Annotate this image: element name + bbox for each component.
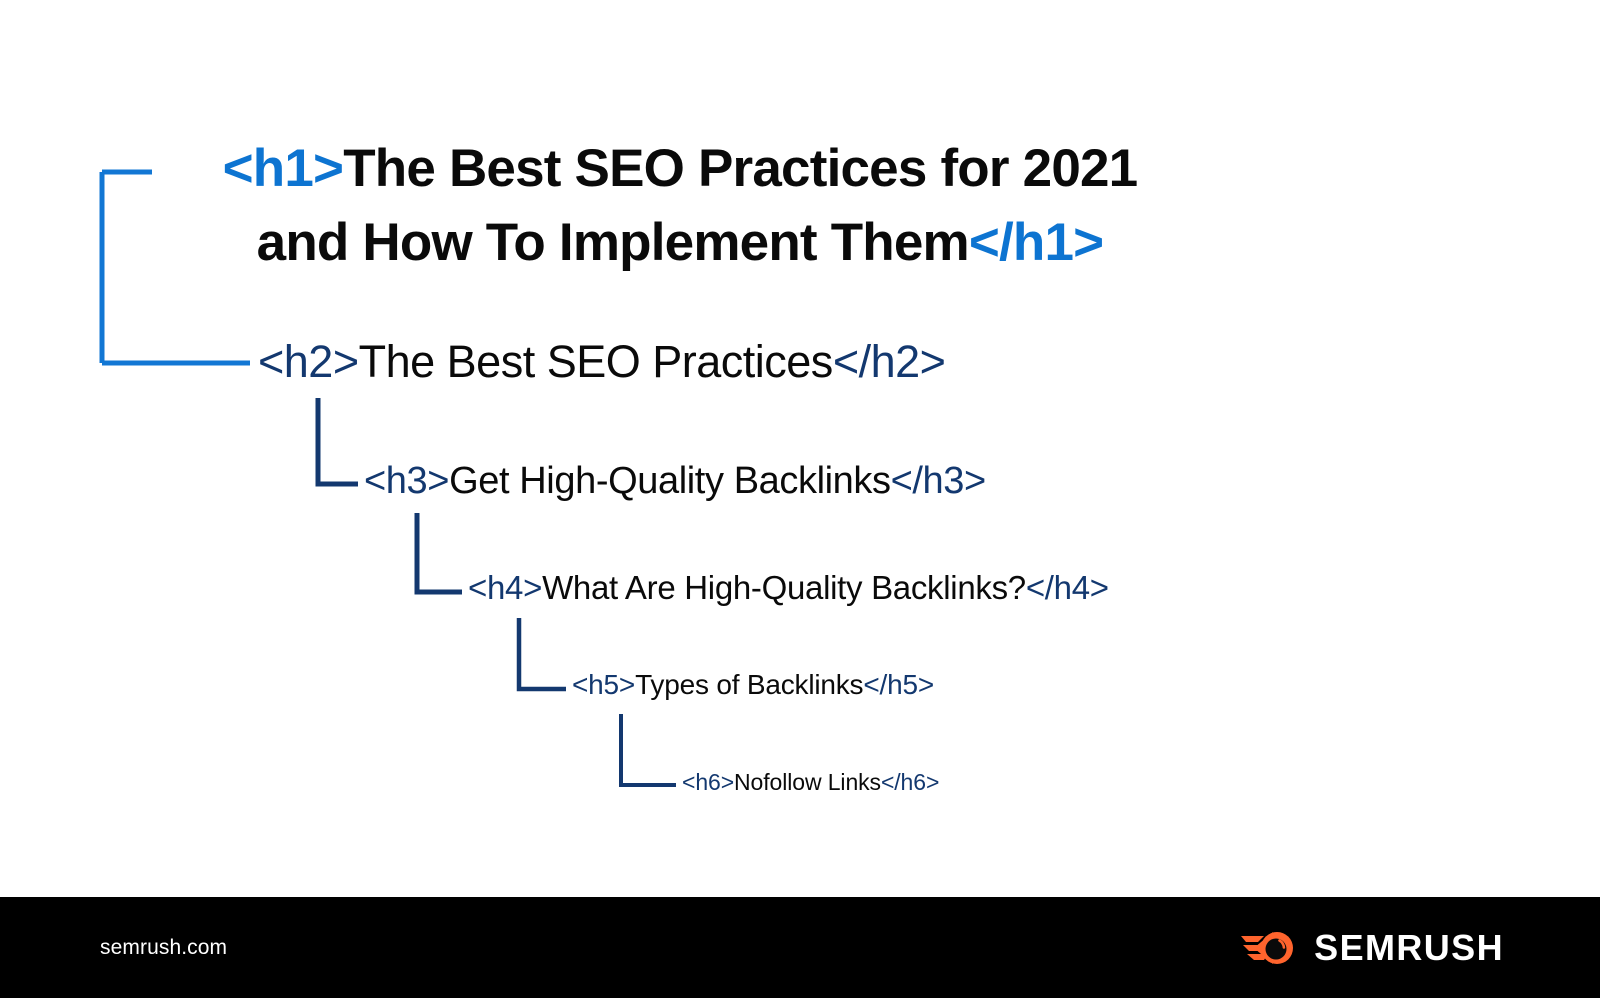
heading-h1-line2: and How To Implement Them</h1> — [150, 206, 1210, 280]
semrush-logo: SEMRUSH — [1241, 927, 1504, 969]
heading-h2-text: The Best SEO Practices — [359, 336, 833, 387]
diagram-canvas: <h1>The Best SEO Practices for 2021 and … — [0, 0, 1600, 998]
heading-h2-open-tag: <h2> — [258, 336, 359, 387]
footer-bar: semrush.com SEMRUSH — [0, 897, 1600, 998]
heading-h3-open-tag: <h3> — [364, 460, 449, 502]
heading-h6-text: Nofollow Links — [734, 769, 881, 795]
connector-h3-to-h4 — [417, 513, 462, 592]
heading-h3-text: Get High-Quality Backlinks — [449, 460, 891, 502]
semrush-wordmark: SEMRUSH — [1314, 927, 1504, 969]
heading-h4-text: What Are High-Quality Backlinks? — [542, 569, 1026, 606]
heading-row-h1: <h1>The Best SEO Practices for 2021 and … — [150, 132, 1210, 280]
heading-h3-close-tag: </h3> — [891, 460, 986, 502]
heading-h6-close-tag: </h6> — [881, 769, 939, 795]
heading-h4-close-tag: </h4> — [1026, 569, 1109, 606]
heading-row-h5: <h5>Types of Backlinks</h5> — [572, 667, 934, 703]
heading-row-h4: <h4>What Are High-Quality Backlinks?</h4… — [468, 567, 1109, 609]
heading-h5-open-tag: <h5> — [572, 669, 635, 700]
heading-row-h6: <h6>Nofollow Links</h6> — [682, 766, 939, 798]
connector-h2-to-h3 — [318, 398, 358, 484]
connector-h5-to-h6 — [621, 714, 676, 785]
heading-h4-open-tag: <h4> — [468, 569, 542, 606]
heading-h6-open-tag: <h6> — [682, 769, 734, 795]
heading-h1-open-tag: <h1> — [223, 139, 344, 198]
heading-h1-text-line2: and How To Implement Them — [257, 213, 969, 272]
heading-h5-close-tag: </h5> — [863, 669, 934, 700]
heading-h1-close-tag: </h1> — [969, 213, 1103, 272]
footer-url: semrush.com — [100, 936, 227, 960]
heading-h2-close-tag: </h2> — [833, 336, 946, 387]
connector-h4-to-h5 — [519, 618, 566, 689]
heading-row-h2: <h2>The Best SEO Practices</h2> — [258, 334, 945, 390]
semrush-comet-icon — [1241, 927, 1297, 969]
heading-row-h3: <h3>Get High-Quality Backlinks</h3> — [364, 457, 986, 505]
heading-h5-text: Types of Backlinks — [635, 669, 863, 700]
heading-h1-text-line1: The Best SEO Practices for 2021 — [343, 139, 1137, 198]
heading-h1-line1: <h1>The Best SEO Practices for 2021 — [150, 132, 1210, 206]
